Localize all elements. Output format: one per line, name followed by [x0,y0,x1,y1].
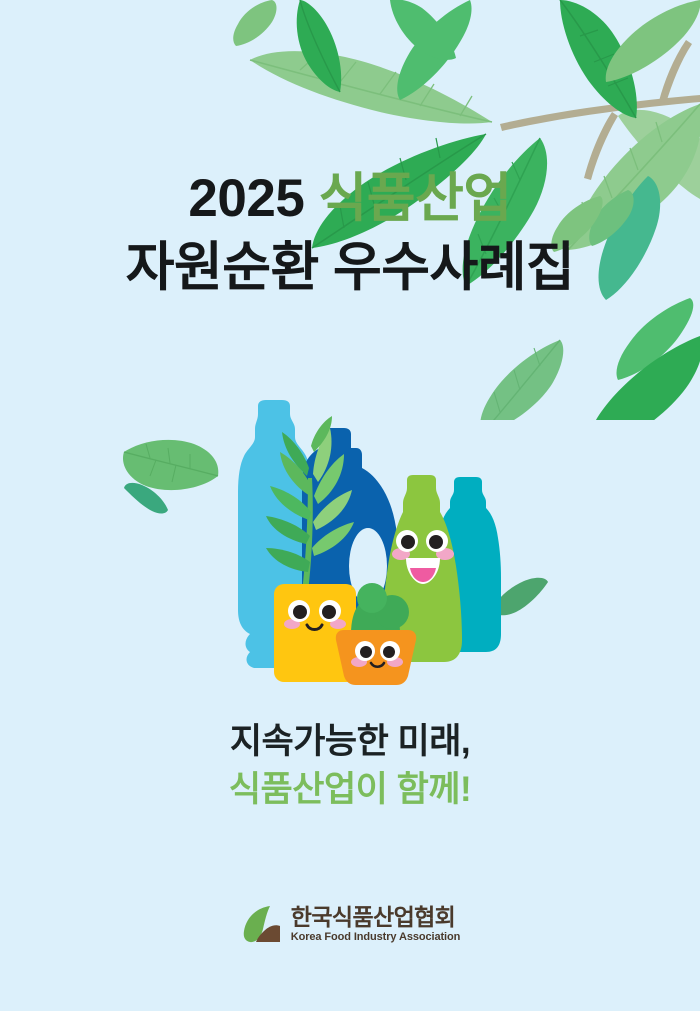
title-highlight: 식품산업 [319,169,512,228]
orange-pot-icon [336,630,416,685]
poster-title-line-2: 자원순환 우수사례집 [0,237,700,300]
title-block: 2025 식품산업 자원순환 우수사례집 [0,168,700,299]
subtitle-block: 지속가능한 미래, 식품산업이 함께! [0,718,700,813]
leaf-soil-logo-icon [240,903,282,945]
subtitle-line-2: 식품산업이 함께! [0,766,700,814]
recycling-illustration [196,396,516,686]
poster-title-line-1: 2025 식품산업 [0,168,700,231]
title-year: 2025 [188,169,304,228]
subtitle-line-1: 지속가능한 미래, [0,718,700,766]
logo-name-korean: 한국식품산업협회 [291,906,460,929]
logo-text-group: 한국식품산업협회 Korea Food Industry Association [291,906,460,943]
logo-name-english: Korea Food Industry Association [291,932,460,943]
poster-canvas: 2025 식품산업 자원순환 우수사례집 [0,0,700,1011]
association-logo: 한국식품산업협회 Korea Food Industry Association [0,903,700,945]
